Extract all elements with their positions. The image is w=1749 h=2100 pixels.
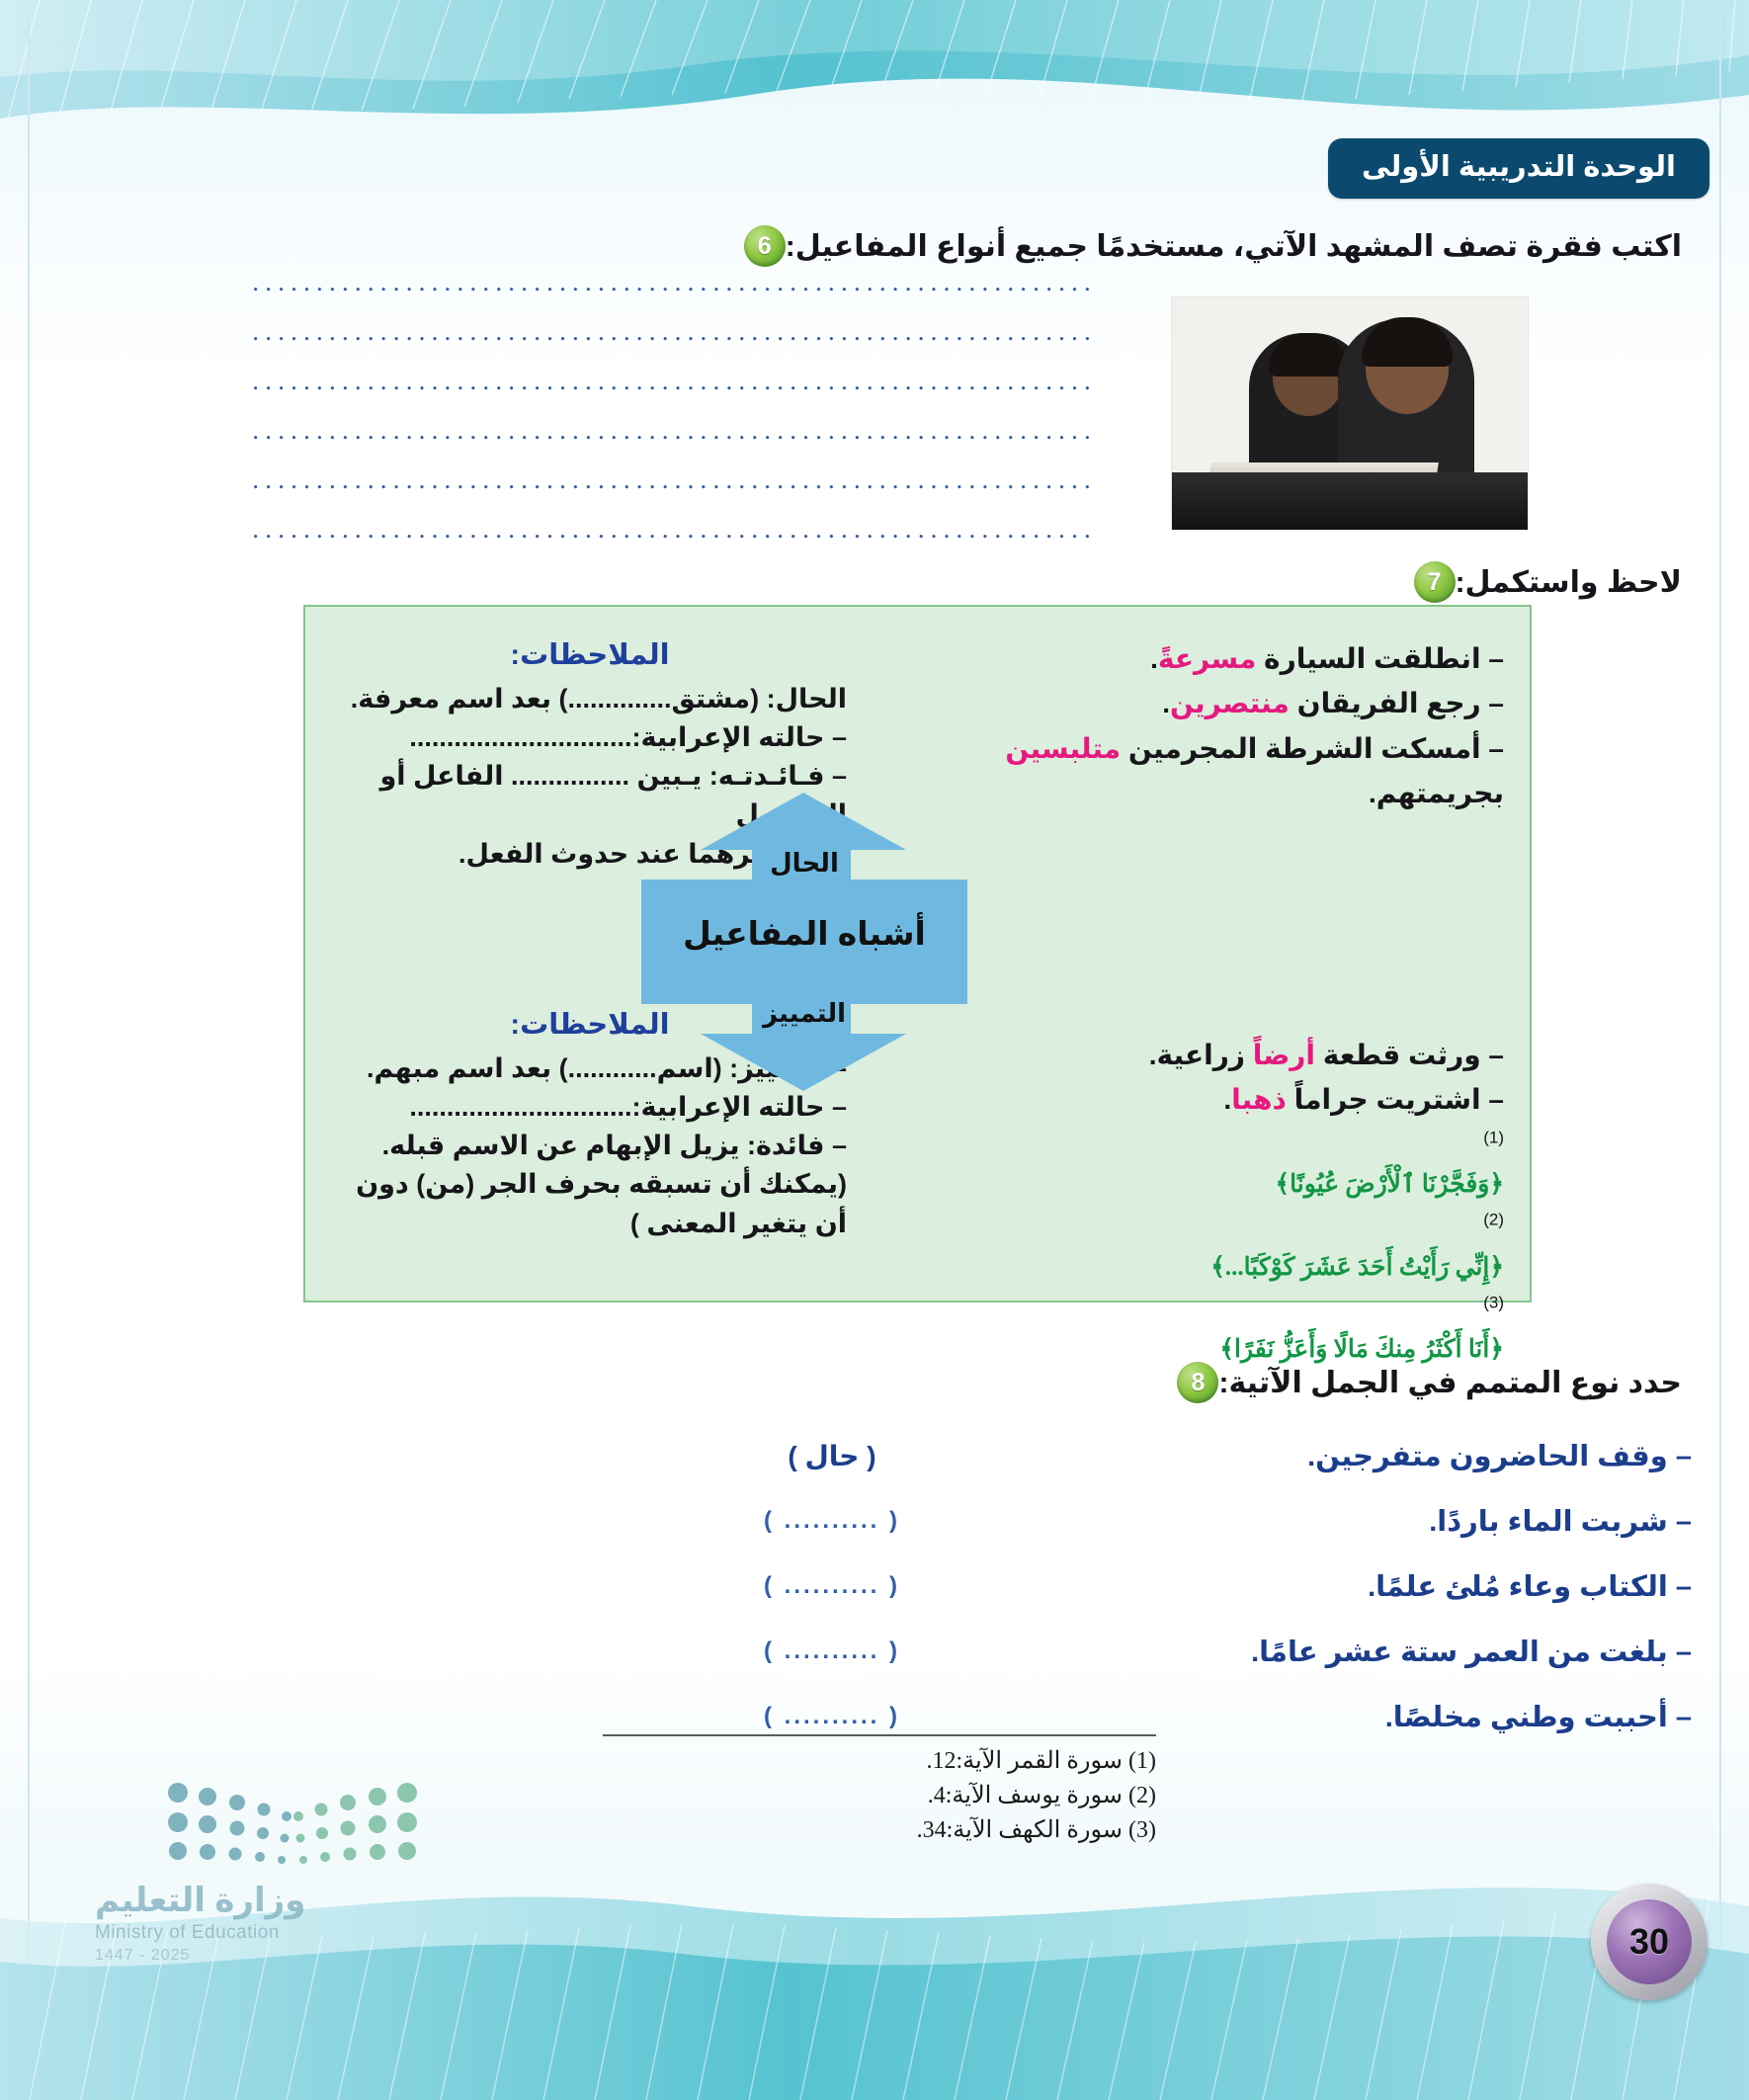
q8-sentence-text: – أحببت وطني xyxy=(1482,1702,1692,1733)
answer-line[interactable]: ........................................… xyxy=(247,415,1097,464)
workbook-page: الوحدة التدريبية الأولى اكتب فقرة تصف ال… xyxy=(0,0,1749,2100)
table-row: – أحببت وطني مخلصًا. ( .......... ) xyxy=(605,1684,1692,1749)
q8-sentence-text: – الكتاب وعاء مُلئ xyxy=(1437,1571,1692,1603)
table-row: – وقف الحاضرون متفرجين. ( حال ) xyxy=(605,1423,1692,1488)
question-6-number: 6 xyxy=(744,225,786,267)
question-8-list: – وقف الحاضرون متفرجين. ( حال ) – شربت ا… xyxy=(605,1423,1692,1749)
question-7-heading: لاحظ واستكمل:7 xyxy=(1414,561,1696,603)
examples-hal: – انطلقت السيارة مسرعةً. – رجع الفريقان … xyxy=(951,636,1504,815)
q8-keyword: متفرجين xyxy=(1315,1441,1442,1472)
table-row: – شربت الماء باردًا. ( .......... ) xyxy=(605,1488,1692,1554)
q8-answer-field[interactable]: ( .......... ) xyxy=(704,1507,960,1535)
question-8-text: حدد نوع المتمم في الجمل الآتية: xyxy=(1218,1366,1682,1400)
q8-answer-field[interactable]: ( .......... ) xyxy=(704,1703,960,1730)
q8-sentence-end: . xyxy=(1385,1702,1393,1733)
q8-sentence: – الكتاب وعاء مُلئ علمًا. xyxy=(960,1569,1692,1604)
footnote-item: (1) سورة القمر الآية:12. xyxy=(603,1744,1156,1779)
question-7-text: لاحظ واستكمل: xyxy=(1456,565,1682,600)
photo-hair xyxy=(1362,317,1453,367)
verse-footnote-marker: (2) xyxy=(1483,1211,1504,1229)
ministry-logo: وزارة التعليم Ministry of Education 2025… xyxy=(95,1779,421,1965)
moe-dots-icon xyxy=(164,1779,421,1864)
q8-keyword: باردًا xyxy=(1437,1506,1499,1538)
answer-line[interactable]: ........................................… xyxy=(247,514,1097,563)
quran-verse-row: (3)﴿أَنَا أَكْثَرُ مِنكَ مَالًا وَأَعَزُ… xyxy=(951,1288,1504,1371)
example-sentence: – اشتريت جراماً ذهبا. xyxy=(951,1078,1504,1123)
example-sentence: – رجع الفريقان منتصرين. xyxy=(951,681,1504,725)
example-text: – رجع الفريقان xyxy=(1290,688,1504,718)
q8-sentence-text: – شربت الماء xyxy=(1500,1506,1692,1538)
diagram-label-hal: الحال xyxy=(641,848,967,879)
verse-footnote-marker: (1) xyxy=(1483,1128,1504,1146)
answer-line[interactable]: ........................................… xyxy=(247,316,1097,366)
example-text: – أمسكت الشرطة المجرمين xyxy=(1121,733,1504,764)
notes-line: (يمكنك أن تسبقه بحرف الجر (من) دون xyxy=(333,1165,847,1204)
answer-line[interactable]: ........................................… xyxy=(247,267,1097,316)
question-6-heading: اكتب فقرة تصف المشهد الآتي، مستخدمًا جمي… xyxy=(744,225,1696,267)
table-row: – الكتاب وعاء مُلئ علمًا. ( .......... ) xyxy=(605,1554,1692,1619)
q8-sentence-end: . xyxy=(1368,1571,1375,1603)
q8-keyword: علمًا xyxy=(1375,1571,1437,1603)
q8-sentence-end: . xyxy=(1251,1637,1259,1668)
notes-title: الملاحظات: xyxy=(333,634,847,676)
unit-title-badge: الوحدة التدريبية الأولى xyxy=(1328,138,1709,199)
ministry-name-arabic: وزارة التعليم xyxy=(95,1881,421,1920)
quran-verse-row: (1)﴿وَفَجَّرْنَا ٱلْأَرْضَ عُيُونًا﴾ xyxy=(951,1123,1504,1206)
diagram-label-tamyiz: التمييز xyxy=(641,998,967,1029)
q8-sentence-end: . xyxy=(1307,1441,1315,1472)
answer-line[interactable]: ........................................… xyxy=(247,464,1097,514)
q8-sentence-text: – بلغت من العمر ستة عشر xyxy=(1318,1637,1692,1668)
q8-sentence-text: – وقف الحاضرون xyxy=(1442,1441,1692,1472)
table-row: – بلغت من العمر ستة عشر عامًا. ( .......… xyxy=(605,1619,1692,1684)
question-7-number: 7 xyxy=(1414,561,1456,603)
question-8-heading: حدد نوع المتمم في الجمل الآتية:8 xyxy=(1177,1362,1696,1403)
photo-desk xyxy=(1172,472,1528,530)
q8-sentence: – شربت الماء باردًا. xyxy=(960,1504,1692,1539)
footnote-divider xyxy=(603,1734,1156,1736)
q8-sentence: – وقف الحاضرون متفرجين. xyxy=(960,1439,1692,1473)
notes-line: – حالته الإعرابية:......................… xyxy=(333,1088,847,1127)
quran-verse: ﴿إِنِّي رَأَيْتُ أَحَدَ عَشَرَ كَوْكَبًا… xyxy=(951,1249,1504,1288)
example-keyword: مسرعةً xyxy=(1158,643,1256,674)
concept-green-box: الملاحظات: الحال: (مشتق..............) ب… xyxy=(303,605,1532,1302)
quran-verse: ﴿وَفَجَّرْنَا ٱلْأَرْضَ عُيُونًا﴾ xyxy=(951,1166,1504,1205)
question-8-number: 8 xyxy=(1177,1362,1218,1403)
examples-tamyiz: – ورثت قطعة أرضاً زراعية. – اشتريت جراما… xyxy=(951,1034,1504,1370)
example-text-end: . xyxy=(1150,643,1158,674)
page-number: 30 xyxy=(1607,1899,1692,1984)
down-arrow-head-icon xyxy=(701,1034,906,1091)
example-text-end: . xyxy=(1223,1084,1231,1115)
notes-line: أن يتغير المعنى ) xyxy=(333,1205,847,1243)
example-keyword: أرضاً xyxy=(1253,1040,1315,1070)
q8-answer-field[interactable]: ( حال ) xyxy=(704,1440,960,1472)
answer-lines-group[interactable]: ........................................… xyxy=(247,267,1097,563)
q8-answer-field[interactable]: ( .......... ) xyxy=(704,1572,960,1600)
example-text-end: زراعية. xyxy=(1149,1040,1253,1070)
answer-line[interactable]: ........................................… xyxy=(247,366,1097,415)
q8-keyword: مخلصًا xyxy=(1393,1702,1482,1733)
diagram-label-center: أشباه المفاعيل xyxy=(641,914,967,953)
example-text: – ورثت قطعة xyxy=(1315,1040,1504,1070)
example-text: – اشتريت جراماً xyxy=(1287,1084,1504,1115)
q8-answer-field[interactable]: ( .......... ) xyxy=(704,1638,960,1665)
q8-sentence: – أحببت وطني مخلصًا. xyxy=(960,1700,1692,1734)
example-text-end: بجريمتهم. xyxy=(1369,778,1504,808)
concept-arrow-diagram: الحال أشباه المفاعيل التمييز xyxy=(641,793,967,1089)
example-keyword: منتصرين xyxy=(1170,688,1290,718)
example-sentence: – أمسكت الشرطة المجرمين متلبسين بجريمتهم… xyxy=(951,726,1504,816)
notes-line: – فائدة: يزيل الإبهام عن الاسم قبله. xyxy=(333,1127,847,1165)
photo-hair xyxy=(1269,333,1348,377)
ministry-name-english: Ministry of Education xyxy=(95,1922,421,1944)
quran-verse-row: (2)﴿إِنِّي رَأَيْتُ أَحَدَ عَشَرَ كَوْكَ… xyxy=(951,1205,1504,1288)
verse-footnote-marker: (3) xyxy=(1483,1293,1504,1311)
notes-line: الحال: (مشتق..............) بعد اسم معرف… xyxy=(333,680,847,718)
example-keyword: متلبسين xyxy=(1005,733,1121,764)
notes-line: – حالته الإعرابية:......................… xyxy=(333,718,847,757)
q8-sentence: – بلغت من العمر ستة عشر عامًا. xyxy=(960,1635,1692,1669)
question-6-text: اكتب فقرة تصف المشهد الآتي، مستخدمًا جمي… xyxy=(786,229,1682,264)
example-keyword: ذهبا xyxy=(1231,1084,1287,1115)
example-sentence: – انطلقت السيارة مسرعةً. xyxy=(951,636,1504,681)
example-text-end: . xyxy=(1162,688,1170,718)
up-arrow-head-icon xyxy=(701,793,906,850)
q8-keyword: عامًا xyxy=(1259,1637,1318,1668)
example-sentence: – ورثت قطعة أرضاً زراعية. xyxy=(951,1034,1504,1078)
students-reading-photo xyxy=(1171,296,1529,531)
example-text: – انطلقت السيارة xyxy=(1256,643,1504,674)
ministry-year: 2025 - 1447 xyxy=(95,1947,421,1965)
page-number-badge: 30 xyxy=(1591,1884,1707,2000)
